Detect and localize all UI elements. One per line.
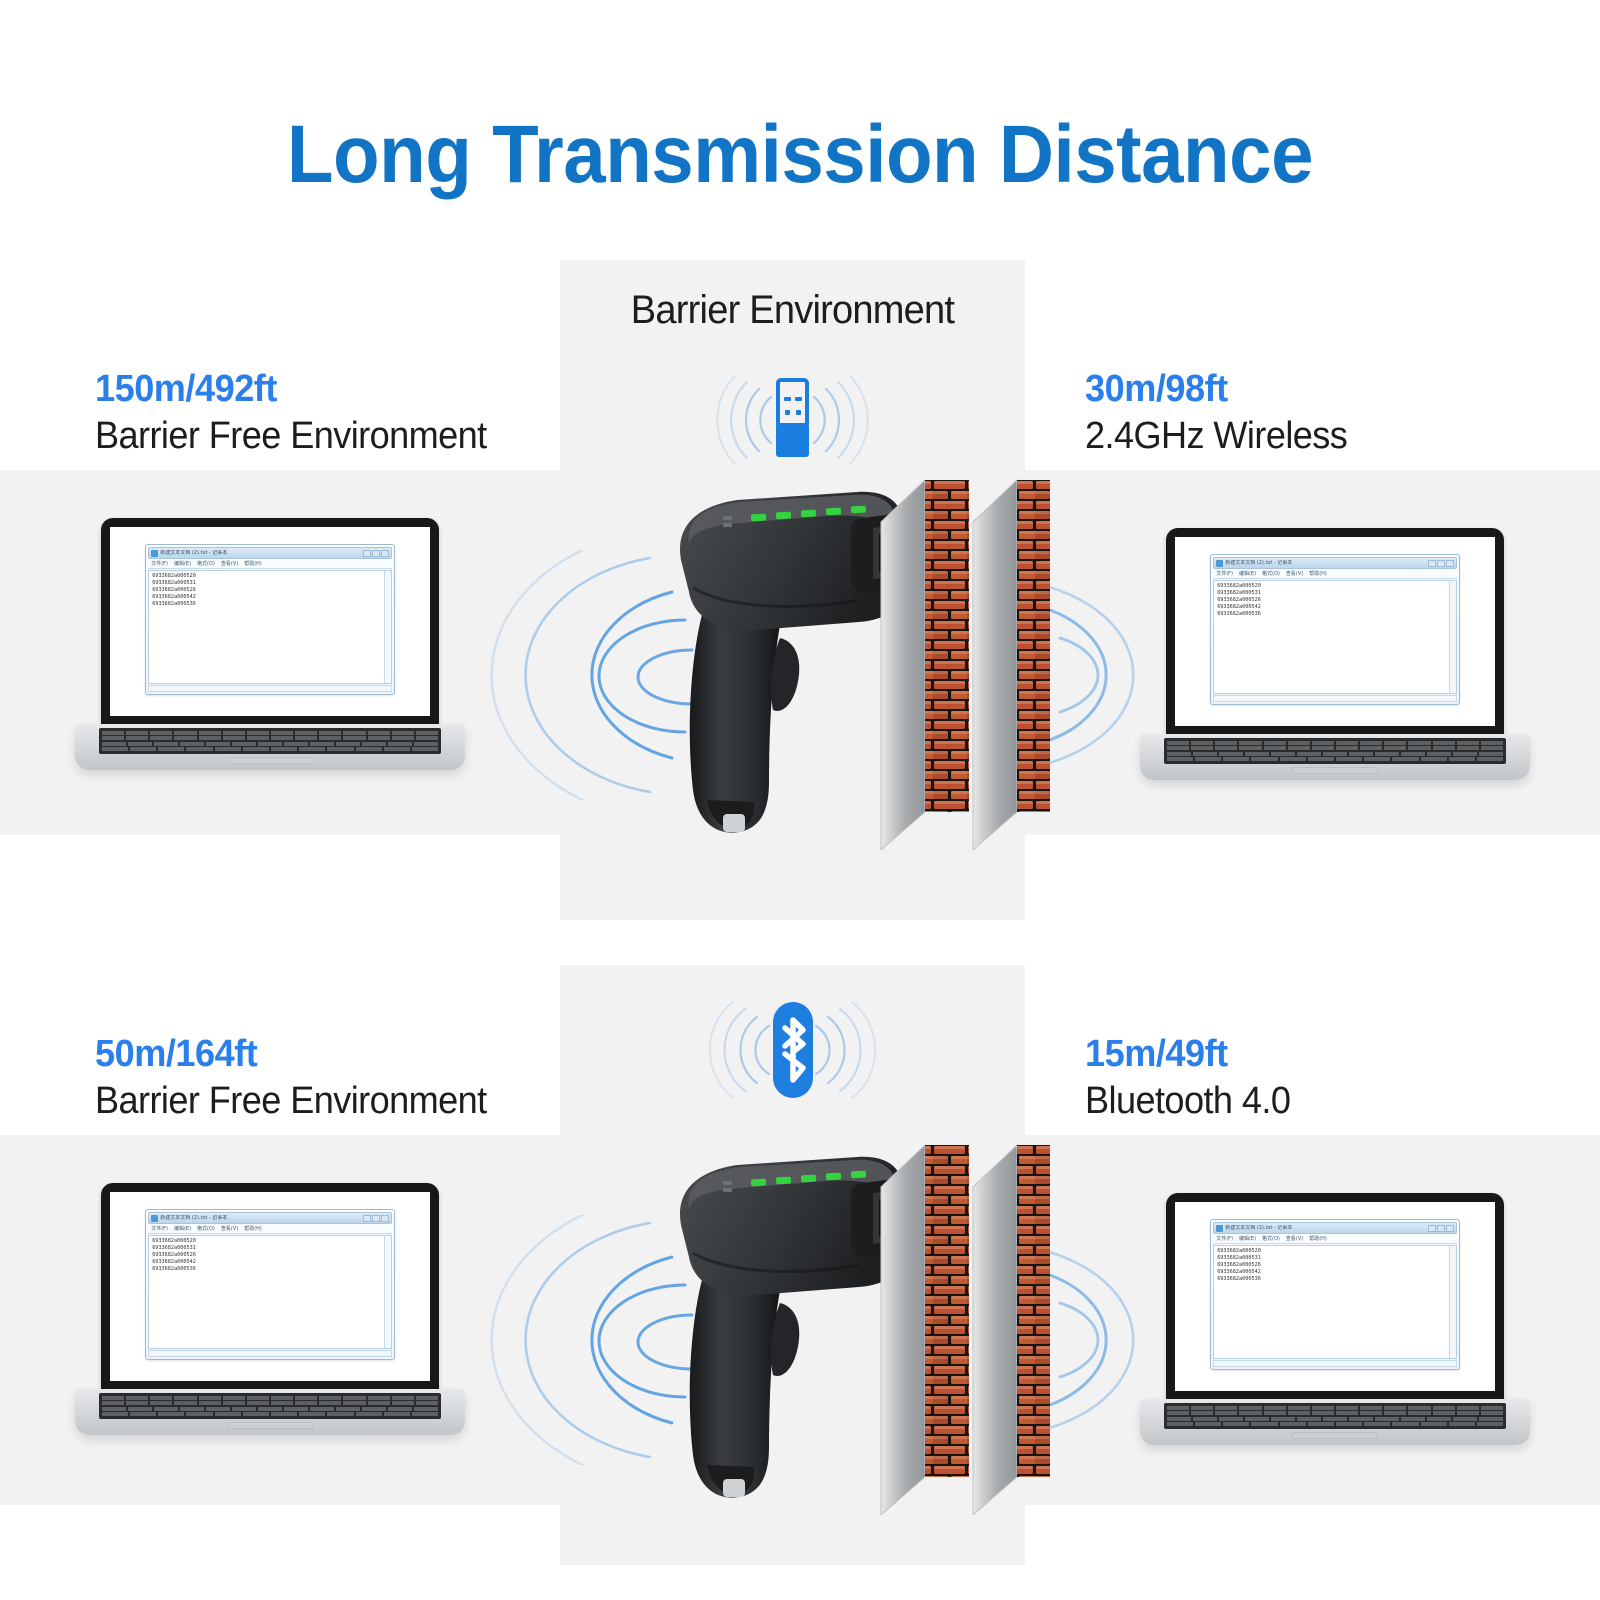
vertical-scrollbar[interactable] <box>1449 581 1456 693</box>
notepad-menubar[interactable]: 文件(F) 编辑(E) 格式(O) 查看(V) 帮助(H) <box>148 559 392 569</box>
close-button[interactable] <box>381 1215 389 1222</box>
laptop-right-wireless: 新建文本文档 (2).txt - 记事本 文件(F) 编辑(E) 格式(O) <box>1140 528 1530 808</box>
minimize-button[interactable] <box>363 550 371 557</box>
maximize-button[interactable] <box>1437 1225 1445 1232</box>
usb-dongle-badge <box>675 365 910 475</box>
maximize-button[interactable] <box>372 550 380 557</box>
laptop-lid: 新建文本文档 (2).txt - 记事本 文件(F) 编辑(E) 格式(O) <box>1166 1193 1504 1401</box>
laptop-keyboard <box>1164 1403 1506 1429</box>
vertical-scrollbar[interactable] <box>384 571 391 683</box>
left-caption-plate-bluetooth: 50m/164ft Barrier Free Environment <box>0 965 560 1135</box>
laptop-left-wireless: 新建文本文档 (2).txt - 记事本 文件(F) 编辑(E) 格式(O) <box>75 518 465 798</box>
barcode-line: 6933682a000536 <box>152 601 388 608</box>
notepad-textarea[interactable]: 6933682a000520 6933682a000531 6933682a00… <box>1213 1245 1457 1359</box>
notepad-icon <box>1216 560 1223 567</box>
notepad-menubar[interactable]: 文件(F) 编辑(E) 格式(O) 查看(V) 帮助(H) <box>1213 1234 1457 1244</box>
close-button[interactable] <box>1446 1225 1454 1232</box>
right-distance-bluetooth: 15m/49ft <box>1085 1033 1228 1076</box>
menu-item-format[interactable]: 格式(O) <box>1262 1235 1280 1242</box>
menu-item-edit[interactable]: 编辑(E) <box>174 1225 191 1232</box>
laptop-base <box>1140 734 1530 780</box>
window-buttons[interactable] <box>1428 1225 1454 1232</box>
menu-item-file[interactable]: 文件(F) <box>1216 570 1233 577</box>
notepad-titlebar: 新建文本文档 (2).txt - 记事本 <box>148 1212 392 1224</box>
section-bluetooth: 50m/164ft Barrier Free Environment 15m/4… <box>0 965 1600 1575</box>
vertical-scrollbar[interactable] <box>384 1236 391 1348</box>
laptop-keyboard <box>99 1393 441 1419</box>
barcode-line: 6933682a000536 <box>1217 611 1453 618</box>
barcode-line: 6933682a000526 <box>1217 597 1453 604</box>
barcode-line: 6933682a000520 <box>1217 1248 1453 1255</box>
laptop-lid: 新建文本文档 (2).txt - 记事本 文件(F) 编辑(E) 格式(O) <box>101 518 439 726</box>
barcode-line: 6933682a000542 <box>152 1259 388 1266</box>
notepad-titlebar: 新建文本文档 (2).txt - 记事本 <box>1213 557 1457 569</box>
menu-item-view[interactable]: 查看(V) <box>221 1225 238 1232</box>
horizontal-scrollbar[interactable] <box>1213 695 1457 702</box>
laptop-trackpad <box>1292 1432 1378 1439</box>
notepad-window[interactable]: 新建文本文档 (2).txt - 记事本 文件(F) 编辑(E) 格式(O) <box>145 1209 395 1360</box>
menu-item-file[interactable]: 文件(F) <box>151 1225 168 1232</box>
window-buttons[interactable] <box>1428 560 1454 567</box>
vertical-scrollbar[interactable] <box>1449 1246 1456 1358</box>
notepad-window[interactable]: 新建文本文档 (2).txt - 记事本 文件(F) 编辑(E) 格式(O) <box>1210 554 1460 705</box>
minimize-button[interactable] <box>363 1215 371 1222</box>
barcode-line: 6933682a000531 <box>1217 590 1453 597</box>
laptop-lid: 新建文本文档 (2).txt - 记事本 文件(F) 编辑(E) 格式(O) <box>1166 528 1504 736</box>
menu-item-view[interactable]: 查看(V) <box>221 560 238 567</box>
menu-item-help[interactable]: 帮助(H) <box>1309 570 1327 577</box>
menu-item-edit[interactable]: 编辑(E) <box>1239 570 1256 577</box>
infographic-page: Long Transmission Distance Barrier Envir… <box>0 0 1600 1600</box>
barcode-line: 6933682a000542 <box>1217 604 1453 611</box>
laptop-keyboard <box>99 728 441 754</box>
notepad-menubar[interactable]: 文件(F) 编辑(E) 格式(O) 查看(V) 帮助(H) <box>1213 569 1457 579</box>
notepad-titlebar: 新建文本文档 (2).txt - 记事本 <box>1213 1222 1457 1234</box>
barcode-line: 6933682a000531 <box>152 1245 388 1252</box>
brick-wall-wireless <box>865 460 1050 855</box>
barcode-line: 6933682a000531 <box>152 580 388 587</box>
minimize-button[interactable] <box>1428 1225 1436 1232</box>
barcode-line: 6933682a000520 <box>1217 583 1453 590</box>
minimize-button[interactable] <box>1428 560 1436 567</box>
notepad-textarea[interactable]: 6933682a000520 6933682a000531 6933682a00… <box>148 570 392 684</box>
barcode-line: 6933682a000526 <box>1217 1262 1453 1269</box>
notepad-window[interactable]: 新建文本文档 (2).txt - 记事本 文件(F) 编辑(E) 格式(O) <box>1210 1219 1460 1370</box>
horizontal-scrollbar[interactable] <box>148 685 392 692</box>
menu-item-file[interactable]: 文件(F) <box>1216 1235 1233 1242</box>
laptop-right-bluetooth: 新建文本文档 (2).txt - 记事本 文件(F) 编辑(E) 格式(O) <box>1140 1193 1530 1473</box>
menu-item-help[interactable]: 帮助(H) <box>244 560 262 567</box>
right-distance-wireless: 30m/98ft <box>1085 368 1228 411</box>
menu-item-format[interactable]: 格式(O) <box>197 560 215 567</box>
window-buttons[interactable] <box>363 1215 389 1222</box>
bluetooth-badge <box>685 990 900 1110</box>
barcode-line: 6933682a000520 <box>152 1238 388 1245</box>
right-description-wireless: 2.4GHz Wireless <box>1085 415 1347 458</box>
notepad-textarea[interactable]: 6933682a000520 6933682a000531 6933682a00… <box>1213 580 1457 694</box>
laptop-screen: 新建文本文档 (2).txt - 记事本 文件(F) 编辑(E) 格式(O) <box>110 527 430 716</box>
notepad-title-text: 新建文本文档 (2).txt - 记事本 <box>160 550 361 557</box>
barrier-environment-label: Barrier Environment <box>572 288 1014 333</box>
laptop-lid: 新建文本文档 (2).txt - 记事本 文件(F) 编辑(E) 格式(O) <box>101 1183 439 1391</box>
notepad-icon <box>1216 1225 1223 1232</box>
menu-item-view[interactable]: 查看(V) <box>1286 1235 1303 1242</box>
left-caption-plate-wireless: 150m/492ft Barrier Free Environment <box>0 260 560 470</box>
barcode-line: 6933682a000520 <box>152 573 388 580</box>
barcode-line: 6933682a000542 <box>1217 1269 1453 1276</box>
laptop-keyboard <box>1164 738 1506 764</box>
maximize-button[interactable] <box>1437 560 1445 567</box>
left-description-bluetooth: Barrier Free Environment <box>95 1080 487 1123</box>
laptop-base <box>75 1389 465 1435</box>
menu-item-format[interactable]: 格式(O) <box>197 1225 215 1232</box>
laptop-screen: 新建文本文档 (2).txt - 记事本 文件(F) 编辑(E) 格式(O) <box>1175 1202 1495 1391</box>
menu-item-format[interactable]: 格式(O) <box>1262 570 1280 577</box>
laptop-trackpad <box>1292 767 1378 774</box>
menu-item-edit[interactable]: 编辑(E) <box>174 560 191 567</box>
notepad-window[interactable]: 新建文本文档 (2).txt - 记事本 文件(F) 编辑(E) 格式(O) <box>145 544 395 695</box>
horizontal-scrollbar[interactable] <box>148 1350 392 1357</box>
menu-item-help[interactable]: 帮助(H) <box>1309 1235 1327 1242</box>
horizontal-scrollbar[interactable] <box>1213 1360 1457 1367</box>
window-buttons[interactable] <box>363 550 389 557</box>
left-distance-wireless: 150m/492ft <box>95 368 277 411</box>
menu-item-file[interactable]: 文件(F) <box>151 560 168 567</box>
laptop-left-bluetooth: 新建文本文档 (2).txt - 记事本 文件(F) 编辑(E) 格式(O) <box>75 1183 465 1463</box>
menu-item-edit[interactable]: 编辑(E) <box>1239 1235 1256 1242</box>
left-distance-bluetooth: 50m/164ft <box>95 1033 257 1076</box>
barcode-line: 6933682a000526 <box>152 587 388 594</box>
page-title: Long Transmission Distance <box>56 108 1544 202</box>
right-description-bluetooth: Bluetooth 4.0 <box>1085 1080 1290 1123</box>
notepad-icon <box>151 550 158 557</box>
laptop-base <box>1140 1399 1530 1445</box>
notepad-title-text: 新建文本文档 (2).txt - 记事本 <box>1225 1225 1426 1232</box>
laptop-base <box>75 724 465 770</box>
bluetooth-icon <box>685 990 900 1110</box>
laptop-screen: 新建文本文档 (2).txt - 记事本 文件(F) 编辑(E) 格式(O) <box>1175 537 1495 726</box>
right-caption-plate-bluetooth: 15m/49ft Bluetooth 4.0 <box>1025 965 1600 1135</box>
brick-wall-bluetooth <box>865 1125 1050 1520</box>
barcode-line: 6933682a000536 <box>1217 1276 1453 1283</box>
left-description-wireless: Barrier Free Environment <box>95 415 487 458</box>
notepad-menubar[interactable]: 文件(F) 编辑(E) 格式(O) 查看(V) 帮助(H) <box>148 1224 392 1234</box>
menu-item-help[interactable]: 帮助(H) <box>244 1225 262 1232</box>
barcode-line: 6933682a000536 <box>152 1266 388 1273</box>
notepad-textarea[interactable]: 6933682a000520 6933682a000531 6933682a00… <box>148 1235 392 1349</box>
right-caption-plate-wireless: 30m/98ft 2.4GHz Wireless <box>1025 260 1600 470</box>
close-button[interactable] <box>381 550 389 557</box>
laptop-screen: 新建文本文档 (2).txt - 记事本 文件(F) 编辑(E) 格式(O) <box>110 1192 430 1381</box>
close-button[interactable] <box>1446 560 1454 567</box>
laptop-trackpad <box>227 1422 313 1429</box>
maximize-button[interactable] <box>372 1215 380 1222</box>
barcode-line: 6933682a000531 <box>1217 1255 1453 1262</box>
notepad-titlebar: 新建文本文档 (2).txt - 记事本 <box>148 547 392 559</box>
section-wireless: Barrier Environment <box>0 260 1600 930</box>
barcode-line: 6933682a000526 <box>152 1252 388 1259</box>
notepad-title-text: 新建文本文档 (2).txt - 记事本 <box>1225 560 1426 567</box>
barcode-line: 6933682a000542 <box>152 594 388 601</box>
notepad-title-text: 新建文本文档 (2).txt - 记事本 <box>160 1215 361 1222</box>
usb-dongle-icon <box>675 365 910 475</box>
notepad-icon <box>151 1215 158 1222</box>
menu-item-view[interactable]: 查看(V) <box>1286 570 1303 577</box>
laptop-trackpad <box>227 757 313 764</box>
